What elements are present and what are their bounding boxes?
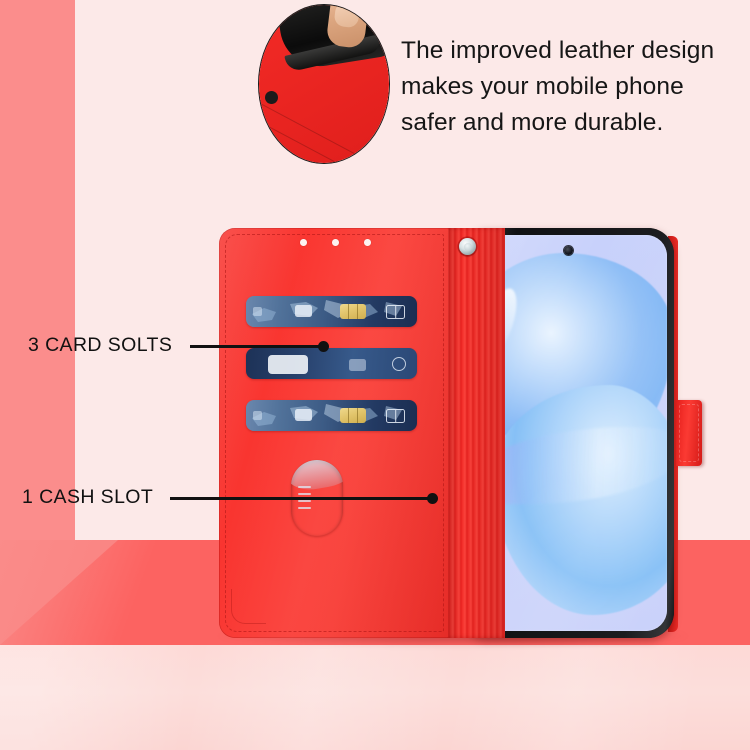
card-logo-small (295, 305, 312, 317)
card-brand-logo (386, 305, 405, 319)
callout-leader-dot-cash-slot (427, 493, 438, 504)
card-logo-large (268, 355, 308, 374)
headline-text: The improved leather design makes your m… (401, 33, 741, 141)
wallet-corner-crease (231, 589, 266, 624)
magnetic-snap-button (459, 238, 476, 255)
card-chip-icon (340, 408, 366, 423)
inset-leather-crease (258, 68, 370, 163)
headline-line-1: The improved leather design (401, 33, 741, 69)
headline-line-2: makes your mobile phone (401, 69, 741, 105)
card-slot-3 (246, 400, 417, 431)
callout-label-cash-slot: 1 CASH SLOT (22, 486, 153, 509)
callout-leader-line-card-slots (190, 345, 324, 348)
headline-line-3: safer and more durable. (401, 105, 741, 141)
card-slot-1 (246, 296, 417, 327)
wallet-rivets (300, 239, 376, 247)
card-brand-logo (386, 409, 405, 423)
case-spine (443, 228, 505, 638)
card-logo-small (349, 359, 366, 371)
background-bottom-sheen (0, 645, 750, 750)
case-spine-shading (443, 228, 505, 638)
magnetic-flap-tab (676, 400, 702, 466)
snap-button-inner (464, 243, 472, 251)
inset-camera-hole (265, 91, 278, 104)
card-left-mark (253, 411, 262, 420)
front-camera-icon (564, 246, 573, 255)
product-marketing-image: The improved leather design makes your m… (0, 0, 750, 750)
card-chip-icon (340, 304, 366, 319)
background-floor-shading (0, 540, 180, 645)
callout-leader-line-cash-slot (170, 497, 432, 500)
inset-leather-crease-2 (258, 95, 387, 164)
card-contactless-icon (392, 357, 406, 371)
leather-peel-inset (258, 4, 390, 164)
card-left-mark (253, 307, 262, 316)
wallet-leather-flap (219, 228, 449, 638)
wallet-stitching (225, 234, 444, 632)
card-logo-small (295, 409, 312, 421)
background-light-strip (75, 0, 221, 543)
card-slot-2 (246, 348, 417, 379)
callout-label-card-slots: 3 CARD SOLTS (28, 334, 172, 357)
oval-inset-frame (258, 4, 390, 164)
flap-tab-stitching (679, 404, 699, 462)
callout-leader-dot-card-slots (318, 341, 329, 352)
cash-notch-ridges (298, 486, 312, 520)
